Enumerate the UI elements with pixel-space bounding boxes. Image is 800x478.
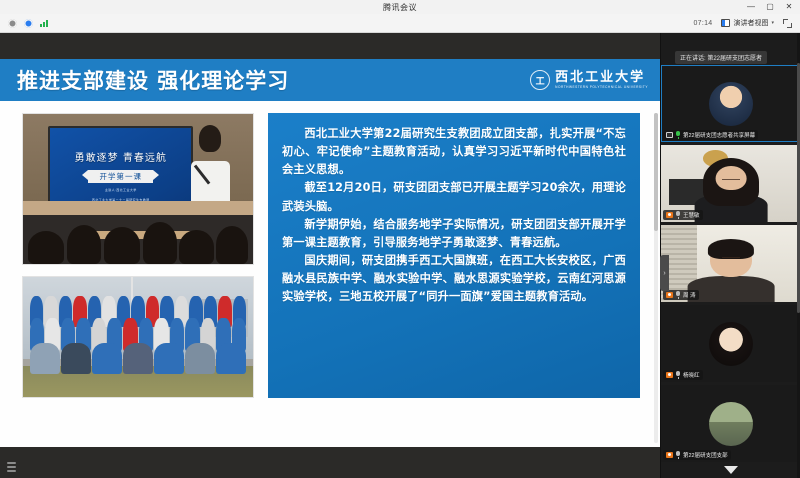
participant-tiles: 第22届研支团志愿者共享屏幕 王慧敏 (661, 65, 800, 465)
participant-rail: 正在讲话: 第22届研支团志愿者 第22届研支团志愿者共享屏幕 (660, 33, 800, 478)
slide-body: 勇敢逐梦 青春远航 开学第一课 主讲人:西北工业大学 西北工业大学第二十二届研究… (0, 101, 660, 447)
toolbar-right-group: 07:14 演讲者视图 ▾ (693, 18, 800, 28)
participant-tile-2[interactable]: 周 涛 (661, 225, 800, 302)
projector-headline: 勇敢逐梦 青春远航 (75, 149, 167, 164)
active-speaker-banner: 正在讲话: 第22届研支团志愿者 (675, 51, 767, 64)
encryption-shield-icon[interactable] (8, 19, 17, 28)
meeting-timer: 07:14 (693, 20, 712, 27)
avatar (709, 322, 753, 366)
participant-badge-icon (666, 452, 673, 458)
participant-nameplate-0: 第22届研支团志愿者共享屏幕 (663, 130, 758, 140)
avatar (709, 82, 753, 126)
university-seal-icon: 工 (530, 70, 550, 90)
projector-subtitle-1: 主讲人:西北工业大学 (105, 188, 137, 193)
group-photo (22, 276, 254, 398)
network-signal-icon[interactable] (40, 19, 48, 27)
layout-icon (721, 19, 730, 27)
slide-header: 推进支部建设 强化理论学习 工 西北工业大学 NORTHWESTERN POLY… (0, 59, 660, 101)
participant-tile-0[interactable]: 第22届研支团志愿者共享屏幕 (661, 65, 800, 142)
chevron-down-icon: ▾ (771, 20, 774, 26)
university-name-en: NORTHWESTERN POLYTECHNICAL UNIVERSITY (555, 86, 648, 89)
participant-nameplate-2: 周 涛 (663, 290, 699, 300)
classroom-photo: 勇敢逐梦 青春远航 开学第一课 主讲人:西北工业大学 西北工业大学第二十二届研究… (22, 113, 254, 265)
view-mode-selector[interactable]: 演讲者视图 ▾ (721, 18, 774, 28)
slide-text-panel: 西北工业大学第22届研究生支教团成立团支部，扎实开展“不忘初心、牢记使命”主题教… (268, 113, 640, 398)
window-title: 腾讯会议 (383, 2, 417, 13)
university-wordmark: 西北工业大学 NORTHWESTERN POLYTECHNICAL UNIVER… (555, 71, 648, 89)
meeting-toolbar: 07:14 演讲者视图 ▾ (0, 14, 800, 33)
close-button[interactable]: ✕ (784, 0, 794, 14)
participant-nameplate-3: 杨晓红 (663, 370, 703, 380)
participant-tile-4[interactable]: 第22届研支团支部 (661, 385, 800, 462)
participant-badge-icon (666, 292, 673, 298)
minimize-button[interactable]: — (746, 0, 756, 14)
window-controls: — ▢ ✕ (746, 0, 798, 14)
rail-scroll-down-icon[interactable] (724, 466, 738, 474)
view-mode-label: 演讲者视图 (733, 18, 768, 28)
mic-muted-icon (675, 371, 681, 379)
university-logo: 工 西北工业大学 NORTHWESTERN POLYTECHNICAL UNIV… (530, 70, 660, 90)
avatar (709, 402, 753, 446)
participant-tile-1[interactable]: 王慧敏 (661, 145, 800, 222)
mic-muted-icon (675, 451, 681, 459)
host-badge-icon (666, 372, 673, 378)
maximize-button[interactable]: ▢ (765, 0, 775, 14)
participant-name-1: 王慧敏 (683, 211, 700, 219)
slide-paragraph-4: 国庆期间，研支团携手西工大国旗班，在西工大长安校区，广西融水县民族中学、融水实验… (282, 252, 626, 306)
participant-badge-icon (666, 212, 673, 218)
participant-tile-3[interactable]: 杨晓红 (661, 305, 800, 382)
slide-paragraph-3: 新学期伊始，结合服务地学子实际情况，研支团团支部开展开学第一课主题教育，引导服务… (282, 216, 626, 252)
rail-collapse-button[interactable]: › (660, 255, 669, 291)
slide-paragraph-1: 西北工业大学第22届研究生支教团成立团支部，扎实开展“不忘初心、牢记使命”主题教… (282, 125, 626, 179)
classroom-students-figures (23, 201, 253, 264)
university-name-cn: 西北工业大学 (555, 71, 648, 84)
toolbar-left-group (0, 19, 48, 28)
mic-muted-icon (675, 211, 681, 219)
participant-name-0: 第22届研支团志愿者共享屏幕 (683, 131, 755, 139)
fullscreen-icon[interactable] (783, 19, 792, 28)
slide-scrollbar[interactable] (654, 113, 658, 443)
participant-name-2: 周 涛 (683, 291, 696, 299)
participant-name-4: 第22届研支团支部 (683, 451, 728, 459)
tencent-meeting-window: 腾讯会议 — ▢ ✕ 07:14 演讲者视图 ▾ 推进支部建设 强化理论 (0, 0, 800, 478)
projector-ribbon-label: 开学第一课 (88, 170, 153, 183)
participant-nameplate-4: 第22届研支团支部 (663, 450, 731, 460)
participant-name-3: 杨晓红 (683, 371, 700, 379)
window-titlebar: 腾讯会议 — ▢ ✕ (0, 0, 800, 14)
security-shield-icon[interactable] (24, 19, 33, 28)
mic-on-icon (675, 131, 681, 139)
participant-nameplate-1: 王慧敏 (663, 210, 703, 220)
shared-screen-stage: 推进支部建设 强化理论学习 工 西北工业大学 NORTHWESTERN POLY… (0, 33, 660, 478)
mic-muted-icon (675, 291, 681, 299)
presentation-slide: 推进支部建设 强化理论学习 工 西北工业大学 NORTHWESTERN POLY… (0, 59, 660, 447)
stage-options-handle[interactable] (7, 462, 16, 472)
screen-share-icon (666, 132, 673, 138)
slide-paragraph-2: 截至12月20日，研支团团支部已开展主题学习20余次，用理论武装头脑。 (282, 179, 626, 215)
slide-title: 推进支部建设 强化理论学习 (0, 65, 289, 95)
